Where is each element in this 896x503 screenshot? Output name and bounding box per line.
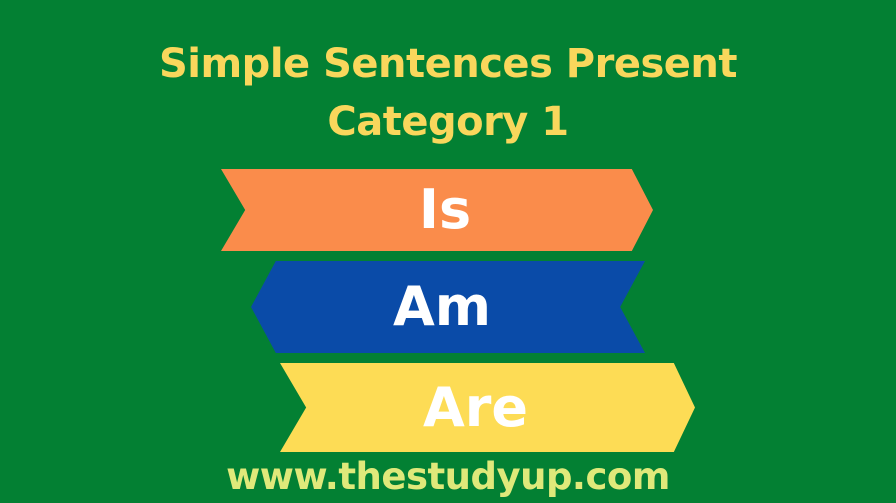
footer: www.thestudyup.com (0, 458, 896, 495)
banner-am-label: Am (393, 280, 491, 334)
banner-are: Are (280, 363, 695, 452)
poster-canvas: Simple Sentences Present Category 1 Is A… (0, 0, 896, 503)
banner-are-label: Are (423, 381, 528, 435)
page-title: Simple Sentences Present Category 1 (0, 44, 896, 142)
title-line-1: Simple Sentences Present (0, 44, 896, 84)
website-url: www.thestudyup.com (226, 455, 670, 498)
banner-is: Is (221, 169, 653, 251)
title-line-2: Category 1 (0, 102, 896, 142)
banner-is-label: Is (419, 183, 471, 237)
banner-am: Am (251, 261, 645, 353)
